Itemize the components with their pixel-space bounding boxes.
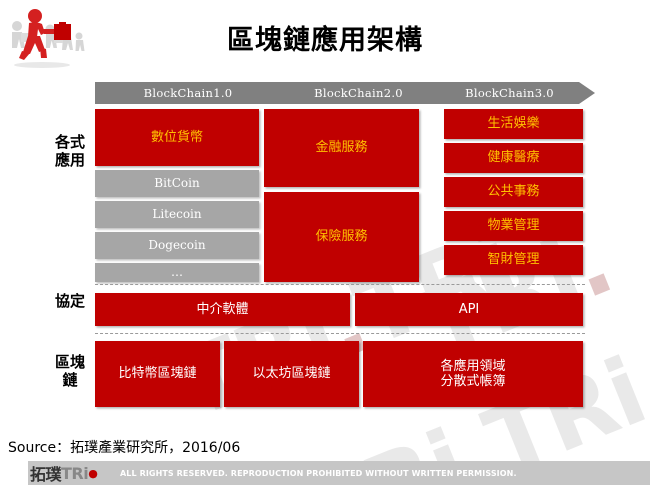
layer-divider-applications-protocol xyxy=(95,284,585,285)
footer-bar: 拓璞TRi● ALL RIGHTS RESERVED. REPRODUCTION… xyxy=(0,461,650,485)
stage-label-blockchain2: BlockChain2.0 xyxy=(281,82,436,104)
app-box-bitcoin[interactable]: BitCoin xyxy=(95,170,259,197)
stage-label-blockchain3: BlockChain3.0 xyxy=(436,82,583,104)
app-box-litecoin[interactable]: Litecoin xyxy=(95,201,259,228)
app-box-property-management[interactable]: 物業管理 xyxy=(444,211,583,241)
row-label-blockchain: 區塊鏈 xyxy=(53,353,87,390)
protocol-box-api[interactable]: API xyxy=(355,293,583,326)
footer-left-spacer xyxy=(0,461,28,485)
app-box-dogecoin[interactable]: Dogecoin xyxy=(95,232,259,259)
protocol-box-middleware[interactable]: 中介軟體 xyxy=(95,293,350,326)
app-box-life-entertainment[interactable]: 生活娛樂 xyxy=(444,109,583,139)
app-box-digital-currency[interactable]: 數位貨幣 xyxy=(95,109,259,166)
app-box-more[interactable]: … xyxy=(95,263,259,282)
footer-brand-logo: 拓璞TRi● xyxy=(30,463,97,483)
layer-divider-protocol-blockchain xyxy=(95,333,585,334)
footer-copyright: ALL RIGHTS RESERVED. REPRODUCTION PROHIB… xyxy=(120,461,517,485)
blockchain-box-ethereum-chain[interactable]: 以太坊區塊鏈 xyxy=(224,341,359,407)
row-label-applications: 各式應用 xyxy=(53,133,87,170)
blockchain-box-distributed-ledger[interactable]: 各應用領域 分散式帳簿 xyxy=(363,341,583,407)
blockchain-box-distributed-ledger-line2: 分散式帳簿 xyxy=(440,374,505,389)
app-box-insurance-services[interactable]: 保險服務 xyxy=(264,192,419,282)
footer-brand-cn: 拓璞 xyxy=(30,461,61,485)
row-label-protocol: 協定 xyxy=(53,292,87,310)
footer-brand-dot: ● xyxy=(88,467,97,480)
stage-label-blockchain1: BlockChain1.0 xyxy=(95,82,281,104)
page-title: 區塊鏈應用架構 xyxy=(0,18,650,57)
app-box-public-affairs[interactable]: 公共事務 xyxy=(444,177,583,207)
app-box-financial-services[interactable]: 金融服務 xyxy=(264,109,419,187)
source-note: Source：拓璞產業研究所，2016/06 xyxy=(8,437,240,457)
app-box-ip-management[interactable]: 智財管理 xyxy=(444,245,583,275)
blockchain-box-distributed-ledger-line1: 各應用領域 xyxy=(440,359,505,374)
app-box-health-medical[interactable]: 健康醫療 xyxy=(444,143,583,173)
footer-brand-en: TRi xyxy=(61,464,88,483)
blockchain-box-bitcoin-chain[interactable]: 比特幣區塊鏈 xyxy=(95,341,220,407)
